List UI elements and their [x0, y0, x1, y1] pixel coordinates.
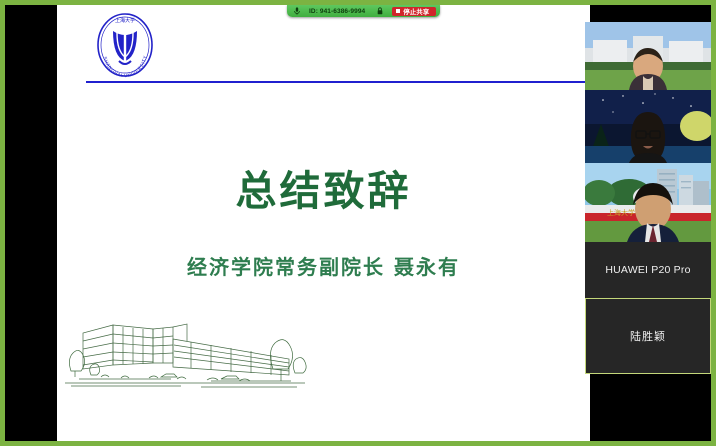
participant-name: HUAWEI P20 Pro	[605, 264, 690, 276]
participant-name: 陆胜颖	[630, 328, 666, 344]
meeting-id-label: ID: 941-6386-9994	[302, 8, 374, 15]
participant-video-3[interactable]: 上海大学	[585, 163, 711, 242]
svg-text:上海大学: 上海大学	[115, 17, 135, 24]
presentation-slide: 上海大学 SHANGHAI UNIVERSITY 总结致辞 经济学院常务副院长 …	[57, 5, 590, 441]
stop-square-icon	[396, 9, 400, 13]
participants-filmstrip[interactable]: 上海大学 HUAWEI P20 Pro 陆胜颖	[585, 22, 711, 374]
zoom-share-toolbar[interactable]: ID: 941-6386-9994 停止共享	[287, 5, 440, 17]
zoom-screen-share-window: 上海大学 SHANGHAI UNIVERSITY 总结致辞 经济学院常务副院长 …	[0, 0, 716, 446]
shanghai-university-logo: 上海大学 SHANGHAI UNIVERSITY	[89, 11, 161, 81]
lock-icon[interactable]	[374, 6, 385, 16]
header-divider	[86, 81, 590, 83]
participant-video-2[interactable]	[585, 90, 711, 163]
microphone-icon[interactable]	[291, 6, 302, 16]
svg-text:上海大学: 上海大学	[607, 208, 635, 217]
participant-video-1[interactable]	[585, 22, 711, 90]
stop-share-button[interactable]: 停止共享	[392, 7, 436, 16]
letterbox-left	[5, 5, 57, 441]
participant-tile-huawei-p20-pro[interactable]: HUAWEI P20 Pro	[585, 242, 711, 298]
shared-desktop: 上海大学 SHANGHAI UNIVERSITY 总结致辞 经济学院常务副院长 …	[5, 5, 711, 441]
participant-tile-active-speaker[interactable]: 陆胜颖	[585, 298, 711, 374]
campus-building-sketch	[61, 307, 311, 397]
slide-subtitle: 经济学院常务副院长 聂永有	[57, 251, 590, 280]
stop-share-label: 停止共享	[403, 6, 429, 16]
slide-title: 总结致辞	[57, 157, 590, 217]
